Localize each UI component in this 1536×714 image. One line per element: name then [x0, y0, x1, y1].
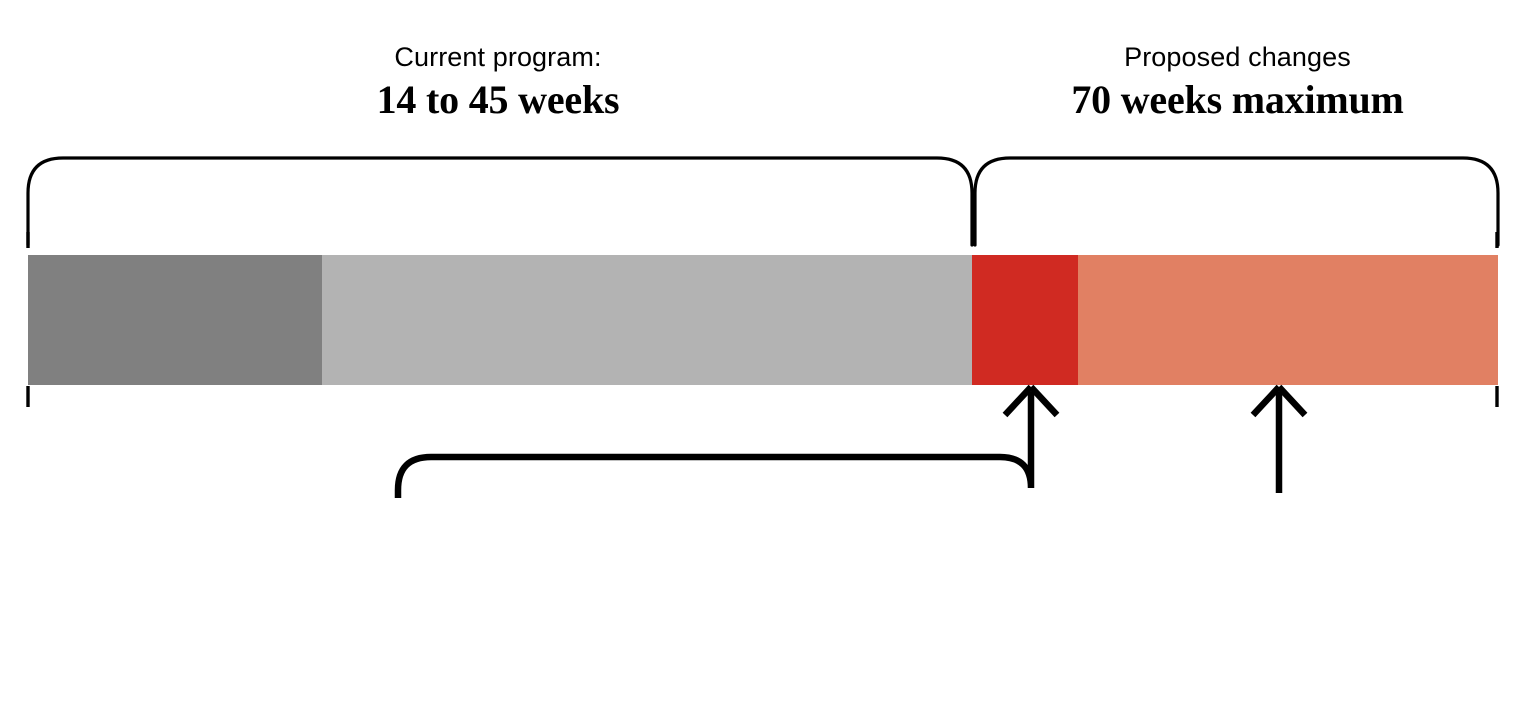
bar-segment-proposed-added — [972, 255, 1078, 385]
group-label-current: Current program: 14 to 45 weeks — [28, 44, 968, 120]
bar-segment-proposed-ext — [1078, 255, 1498, 385]
bracket-current — [28, 158, 972, 245]
group-label-proposed: Proposed changes 70 weeks maximum — [977, 44, 1498, 120]
bracket-proposed — [975, 158, 1498, 245]
chart-figure: Current program: 14 to 45 weeks Proposed… — [0, 0, 1536, 714]
stacked-bar — [28, 255, 1498, 385]
callout-arrow-curved-head — [1005, 387, 1057, 415]
group-headline-current: 14 to 45 weeks — [28, 80, 968, 120]
group-headline-proposed: 70 weeks maximum — [977, 80, 1498, 120]
bar-segment-current-max — [322, 255, 972, 385]
callout-arrow-curved — [398, 392, 1031, 498]
callout-arrow-straight-head — [1253, 387, 1305, 415]
bar-segment-current-min — [28, 255, 322, 385]
group-caption-current: Current program: — [28, 44, 968, 71]
group-caption-proposed: Proposed changes — [977, 44, 1498, 71]
